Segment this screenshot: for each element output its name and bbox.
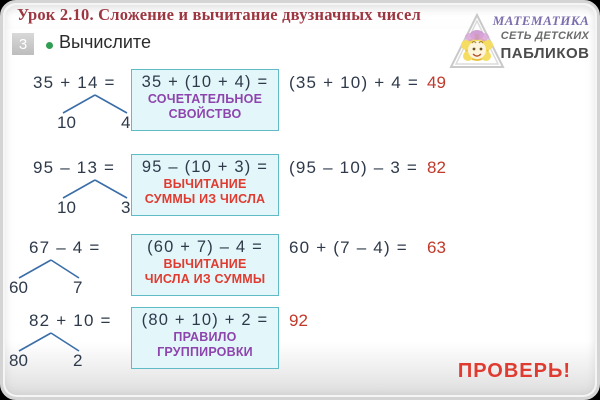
decomposition-left: 80 xyxy=(9,351,28,371)
rule-name-line-2: ЧИСЛА ИЗ СУММЫ xyxy=(132,272,278,287)
row-answer: 92 xyxy=(289,311,308,331)
decomposition-right: 3 xyxy=(121,198,130,218)
row-answer: 82 xyxy=(427,158,446,178)
watermark-logo: МАТЕМАТИКА СЕТЬ ДЕТСКИХ ПАБЛИКОВ xyxy=(447,5,593,75)
decomposition-tree xyxy=(11,331,91,353)
decomposition-tree xyxy=(55,178,135,200)
decomposition-left: 10 xyxy=(57,198,76,218)
rule-name-line-2: ГРУППИРОВКИ xyxy=(132,345,278,360)
row-answer: 49 xyxy=(427,73,446,93)
rule-box: 95 – (10 + 3) = ВЫЧИТАНИЕ СУММЫ ИЗ ЧИСЛА xyxy=(131,154,279,216)
rule-name-line-2: СУММЫ ИЗ ЧИСЛА xyxy=(132,192,278,207)
decomposition-tree xyxy=(55,93,135,115)
decomposition-left: 10 xyxy=(57,113,76,133)
rule-equation: 35 + (10 + 4) = xyxy=(132,73,278,92)
row-expression: 35 + 14 = xyxy=(33,73,116,93)
row-expression: 82 + 10 = xyxy=(29,311,112,331)
rule-name-line-2: СВОЙСТВО xyxy=(132,107,278,122)
rule-box: (60 + 7) – 4 = ВЫЧИТАНИЕ ЧИСЛА ИЗ СУММЫ xyxy=(131,234,279,296)
rule-box: (80 + 10) + 2 = ПРАВИЛО ГРУППИРОВКИ xyxy=(131,307,279,369)
rule-name-line-1: ПРАВИЛО xyxy=(132,330,278,345)
regrouped-expression: 60 + (7 – 4) = xyxy=(289,238,408,258)
row-answer: 63 xyxy=(427,238,446,258)
decomposition-left: 60 xyxy=(9,278,28,298)
regrouped-expression: (35 + 10) + 4 = xyxy=(289,73,419,93)
rule-equation: 95 – (10 + 3) = xyxy=(132,158,278,177)
row-expression: 95 – 13 = xyxy=(33,158,115,178)
rule-box: 35 + (10 + 4) = СОЧЕТАТЕЛЬНОЕ СВОЙСТВО xyxy=(131,69,279,131)
decomposition-right: 7 xyxy=(73,278,82,298)
rule-name-line-1: ВЫЧИТАНИЕ xyxy=(132,177,278,192)
rule-name-line-1: ВЫЧИТАНИЕ xyxy=(132,257,278,272)
check-label: ПРОВЕРЬ! xyxy=(458,360,571,383)
slide-canvas: Урок 2.10. Сложение и вычитание двузначн… xyxy=(0,0,600,400)
rule-name-line-1: СОЧЕТАТЕЛЬНОЕ xyxy=(132,92,278,107)
task-label: Вычислите xyxy=(59,32,151,53)
rule-equation: (60 + 7) – 4 = xyxy=(132,238,278,257)
logo-line-1: МАТЕМАТИКА xyxy=(491,13,591,29)
lesson-title: Урок 2.10. Сложение и вычитание двузначн… xyxy=(17,5,421,25)
decomposition-right: 2 xyxy=(73,351,82,371)
decomposition-tree xyxy=(11,258,91,280)
decomposition-right: 4 xyxy=(121,113,130,133)
logo-line-3: ПАБЛИКОВ xyxy=(499,45,591,62)
task-bullet-icon xyxy=(46,42,53,49)
rule-equation: (80 + 10) + 2 = xyxy=(132,311,278,330)
task-number-badge: 3 xyxy=(12,33,34,55)
row-expression: 67 – 4 = xyxy=(29,238,101,258)
logo-line-2: СЕТЬ ДЕТСКИХ xyxy=(499,30,591,42)
regrouped-expression: (95 – 10) – 3 = xyxy=(289,158,418,178)
